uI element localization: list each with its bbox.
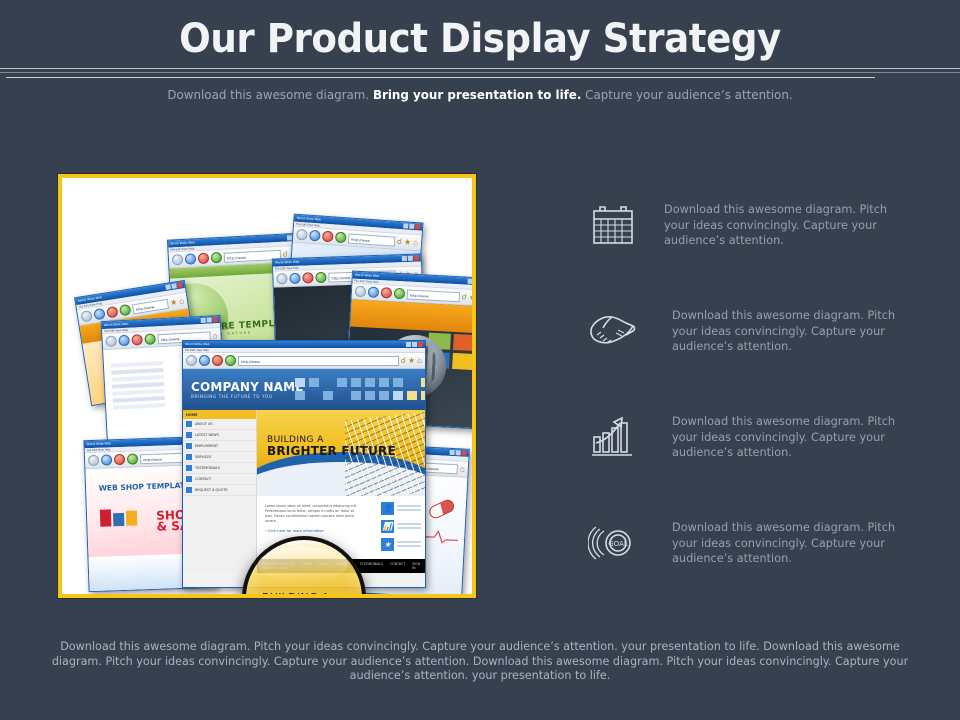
- favorite-star-icon[interactable]: ★: [169, 298, 177, 307]
- window-titlebar: World Wide Web: [183, 341, 425, 348]
- footer-link-testimonials[interactable]: TESTIMONIALS: [360, 562, 383, 570]
- body-paragraph: Lorem ipsum dolor sit amet, consectetur …: [265, 504, 359, 524]
- list-item-text: Download this awesome diagram. Pitch you…: [664, 202, 904, 249]
- banner-text: BUILDING A BRIGHTER FUTURE: [267, 436, 396, 458]
- go-icon[interactable]: [144, 333, 156, 345]
- window-title: World Wide Web: [185, 341, 210, 348]
- list-item-text: Download this awesome diagram. Pitch you…: [672, 414, 912, 461]
- go-icon[interactable]: [394, 288, 406, 300]
- nav-item-request-a-quote[interactable]: REQUEST A QUOTE: [183, 485, 256, 496]
- list-item-text: Download this awesome diagram. Pitch you…: [672, 308, 912, 355]
- back-icon[interactable]: [276, 273, 287, 284]
- forward-icon[interactable]: [93, 308, 106, 321]
- badge-lines: [397, 505, 421, 513]
- address-bar[interactable]: http://www.: [348, 233, 395, 246]
- nav-item-home[interactable]: HOME: [183, 410, 256, 419]
- address-bar[interactable]: http://www.: [238, 356, 399, 366]
- calendar-icon: [588, 202, 638, 248]
- image-frame: World Wide Web File Edit View Help http:…: [58, 174, 476, 598]
- calendar-icon-svg: [591, 204, 635, 246]
- site-left-nav: HOME ABOUT US LATEST NEWS EMPLOYMENT SER…: [183, 410, 257, 573]
- bullet-icon: [186, 432, 192, 438]
- company-tagline: BRINGING THE FUTURE TO YOU: [191, 394, 272, 399]
- nav-label: REQUEST A QUOTE: [195, 488, 228, 492]
- company-name: COMPANY NAME: [191, 380, 304, 394]
- orange-header-bar: [350, 300, 476, 334]
- lens-line-1: BUILDING A: [262, 592, 362, 598]
- footer-link-contact[interactable]: CONTACT: [390, 562, 405, 570]
- back-icon[interactable]: [172, 254, 184, 266]
- back-icon[interactable]: [105, 335, 117, 347]
- pill-icon: [428, 498, 457, 521]
- browser-collage: World Wide Web File Edit View Help http:…: [62, 178, 472, 594]
- search-icon[interactable]: ☌: [282, 250, 288, 258]
- nav-item-testimonials[interactable]: TESTIMONIALS: [183, 463, 256, 474]
- growth-chart-icon-svg: [590, 415, 636, 459]
- back-icon[interactable]: [80, 310, 93, 323]
- nav-label: TESTIMONIALS: [195, 466, 220, 470]
- bullet-icon: [186, 487, 192, 493]
- list-item[interactable]: GOAL Download this awesome diagram. Pitc…: [588, 514, 918, 620]
- back-icon[interactable]: [296, 229, 308, 241]
- bullet-list: Download this awesome diagram. Pitch you…: [588, 196, 918, 620]
- badge-user[interactable]: 👤: [381, 502, 421, 515]
- stop-icon[interactable]: [212, 355, 223, 366]
- handshake-icon-svg: [588, 311, 638, 351]
- nav-label: EMPLOYMENT: [195, 444, 218, 448]
- lens-text: BUILDING A BRIGHTER FUTURE: [262, 592, 362, 598]
- nav-item-latest-news[interactable]: LATEST NEWS: [183, 430, 256, 441]
- forward-icon[interactable]: [118, 335, 130, 347]
- stop-icon[interactable]: [198, 253, 210, 265]
- go-icon[interactable]: [225, 355, 236, 366]
- stop-icon[interactable]: [114, 454, 125, 465]
- site-hero: COMPANY NAME BRINGING THE FUTURE TO YOU: [183, 369, 425, 415]
- page-title: Our Product Display Strategy: [34, 16, 927, 62]
- search-icon[interactable]: ☌: [401, 357, 406, 365]
- window-controls[interactable]: [450, 450, 467, 456]
- goal-target-icon-svg: GOAL: [588, 523, 638, 563]
- nav-item-about-us[interactable]: ABOUT US: [183, 419, 256, 430]
- site-badges: 👤 📊 ★: [381, 502, 421, 551]
- nav-item-services[interactable]: SERVICES: [183, 452, 256, 463]
- shopping-bags-icon: [99, 509, 137, 527]
- divider-line-middle: [0, 72, 960, 73]
- header-divider: [0, 68, 960, 82]
- stop-icon[interactable]: [106, 306, 119, 319]
- shop-title: WEB SHOP TEMPLATE: [98, 480, 190, 492]
- favorite-star-icon[interactable]: ★: [404, 238, 412, 246]
- stop-icon[interactable]: [302, 272, 313, 283]
- go-icon[interactable]: [211, 252, 223, 264]
- home-icon[interactable]: ⌂: [417, 357, 422, 365]
- goal-target-icon: GOAL: [588, 520, 638, 566]
- back-icon[interactable]: [88, 455, 99, 466]
- window-controls[interactable]: [201, 317, 218, 323]
- window-controls[interactable]: [468, 279, 476, 285]
- bullet-icon: [186, 454, 192, 460]
- list-item[interactable]: Download this awesome diagram. Pitch you…: [588, 196, 918, 302]
- subtitle: Download this awesome diagram. Bring you…: [24, 87, 936, 102]
- window-controls[interactable]: [406, 342, 423, 347]
- bullet-icon: [186, 421, 192, 427]
- forward-icon[interactable]: [185, 253, 197, 265]
- divider-line-bottom: [6, 77, 875, 78]
- window-controls[interactable]: [403, 223, 420, 229]
- nav-label: ABOUT US: [195, 422, 213, 426]
- stop-icon[interactable]: [381, 287, 393, 299]
- go-icon[interactable]: [119, 304, 132, 317]
- go-icon[interactable]: [127, 453, 138, 464]
- banner-line-2: BRIGHTER FUTURE: [267, 445, 396, 458]
- forward-icon[interactable]: [309, 230, 321, 242]
- hero-tile-pattern: [295, 378, 426, 400]
- bullet-icon: [186, 476, 192, 482]
- favorite-star-icon[interactable]: ★: [408, 357, 415, 365]
- list-item-text: Download this awesome diagram. Pitch you…: [672, 520, 912, 567]
- badge-chart[interactable]: 📊: [381, 520, 421, 533]
- footer-note: Download this awesome diagram. Pitch you…: [36, 640, 924, 684]
- back-icon[interactable]: [355, 286, 367, 298]
- subtitle-emphasis: Bring your presentation to life.: [373, 87, 581, 102]
- nav-label: LATEST NEWS: [195, 433, 219, 437]
- address-bar[interactable]: http://www.: [407, 289, 460, 302]
- badge-lines: [397, 523, 421, 531]
- bullet-icon: [186, 443, 192, 449]
- footer-link-sign-in[interactable]: SIGN IN: [412, 562, 420, 570]
- bullet-icon: [186, 465, 192, 471]
- forward-icon[interactable]: [289, 273, 300, 284]
- growth-chart-icon: [588, 414, 638, 460]
- lens-glare: [258, 547, 348, 582]
- list-item[interactable]: Download this awesome diagram. Pitch you…: [588, 302, 918, 408]
- nav-label: CONTACT: [195, 477, 211, 481]
- back-icon[interactable]: [186, 355, 197, 366]
- favorite-star-icon[interactable]: ★: [469, 293, 476, 301]
- site-banner: BUILDING A BRIGHTER FUTURE: [257, 410, 425, 496]
- search-icon[interactable]: ☌: [461, 293, 467, 301]
- home-icon[interactable]: ⌂: [460, 465, 465, 473]
- search-icon[interactable]: ☌: [396, 237, 402, 245]
- home-icon[interactable]: ⌂: [179, 297, 185, 306]
- star-icon: ★: [381, 538, 394, 551]
- divider-line-top: [0, 68, 960, 69]
- subtitle-part-2: Capture your audience’s attention.: [585, 87, 792, 102]
- window-controls[interactable]: [402, 256, 419, 262]
- handshake-icon: [588, 308, 638, 354]
- subtitle-part-1: Download this awesome diagram.: [167, 87, 369, 102]
- slide-root: Our Product Display Strategy Download th…: [0, 0, 960, 720]
- goal-label: GOAL: [608, 540, 628, 548]
- stop-icon[interactable]: [131, 334, 143, 346]
- forward-icon[interactable]: [199, 355, 210, 366]
- user-icon: 👤: [381, 502, 394, 515]
- go-icon[interactable]: [315, 272, 326, 283]
- home-icon[interactable]: ⌂: [413, 239, 418, 247]
- go-icon[interactable]: [335, 232, 347, 244]
- badge-lines: [397, 541, 421, 549]
- placeholder-list: [111, 361, 165, 413]
- nav-label: SERVICES: [195, 455, 211, 459]
- chart-icon: 📊: [381, 520, 394, 533]
- badge-star[interactable]: ★: [381, 538, 421, 551]
- forward-icon[interactable]: [368, 286, 380, 298]
- stop-icon[interactable]: [322, 231, 334, 243]
- nav-item-employment[interactable]: EMPLOYMENT: [183, 441, 256, 452]
- home-icon[interactable]: ⌂: [212, 332, 217, 340]
- forward-icon[interactable]: [101, 454, 112, 465]
- window-navbar: http://www. ☌ ★ ⌂: [183, 353, 425, 369]
- nav-item-contact[interactable]: CONTACT: [183, 474, 256, 485]
- list-item[interactable]: Download this awesome diagram. Pitch you…: [588, 408, 918, 514]
